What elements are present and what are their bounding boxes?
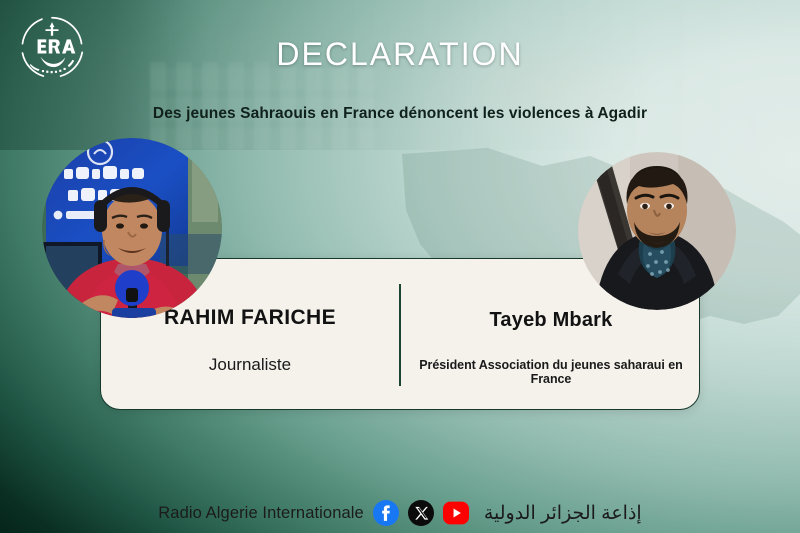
guest-photo-left-icon: [42, 138, 222, 318]
speaker-name-right: Tayeb Mbark: [401, 309, 701, 332]
page-title: DECLARATION: [0, 36, 800, 73]
broadcast-lower-third-graphic: DECLARATION Des jeunes Sahraouis en Fran…: [0, 0, 800, 533]
youtube-icon[interactable]: [443, 500, 469, 526]
footer-bar: Radio Algerie Internationale إذاعة الجزا…: [0, 493, 800, 533]
speaker-role-left: Journaliste: [101, 355, 399, 375]
guest-photo-right-icon: [578, 152, 736, 310]
footer-label-fr: Radio Algerie Internationale: [158, 504, 364, 523]
page-subtitle: Des jeunes Sahraouis en France dénoncent…: [0, 105, 800, 123]
studio-photo-backdrop: [0, 0, 800, 150]
facebook-icon[interactable]: [373, 500, 399, 526]
footer-label-ar: إذاعة الجزائر الدولية: [484, 502, 642, 525]
x-twitter-icon[interactable]: [408, 500, 434, 526]
speaker-role-right: Président Association du jeunes saharaui…: [401, 358, 701, 386]
